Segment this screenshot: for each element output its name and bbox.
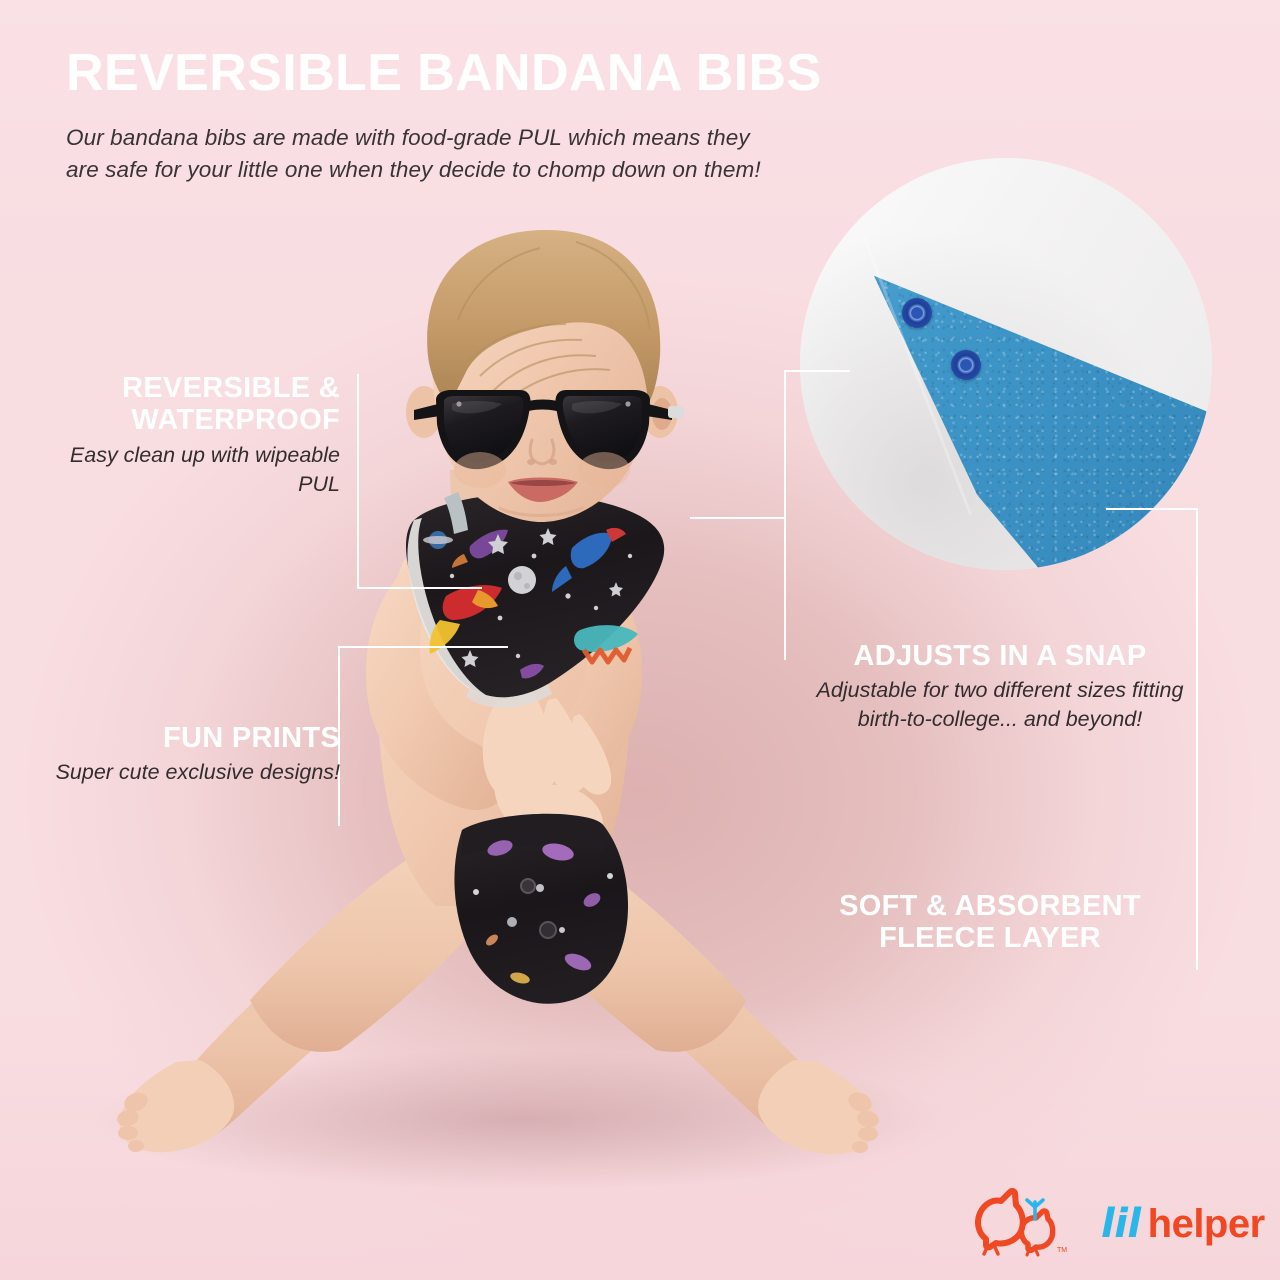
connector-snap-to-circle xyxy=(784,370,850,372)
infographic-canvas: REVERSIBLE BANDANA BIBS Our bandana bibs… xyxy=(0,0,1280,1280)
snap-button-bottom xyxy=(951,350,981,380)
two-birds-icon: TM xyxy=(975,1188,1093,1260)
callout-title: REVERSIBLE & WATERPROOF xyxy=(40,372,340,437)
callout-soft-absorbent-fleece: SOFT & ABSORBENT FLEECE LAYER xyxy=(790,890,1190,955)
svg-text:TM: TM xyxy=(1057,1247,1067,1254)
connector-fleece-vertical xyxy=(1196,508,1198,970)
connector-snap-vertical xyxy=(784,370,786,660)
callout-reversible-waterproof: REVERSIBLE & WATERPROOF Easy clean up wi… xyxy=(40,372,340,498)
callout-fun-prints: FUN PRINTS Super cute exclusive designs! xyxy=(40,722,340,787)
brand-logo[interactable]: TM lil helper xyxy=(975,1188,1265,1260)
callout-body: Adjustable for two different sizes fitti… xyxy=(800,676,1200,733)
callout-title: SOFT & ABSORBENT FLEECE LAYER xyxy=(790,890,1190,955)
connector-funprints-horizontal xyxy=(338,646,508,648)
logo-word-helper: helper xyxy=(1148,1202,1265,1247)
callout-body: Super cute exclusive designs! xyxy=(40,758,340,787)
callout-body: Easy clean up with wipeable PUL xyxy=(40,441,340,498)
snap-button-top xyxy=(902,298,932,328)
logo-wordmark: lil helper xyxy=(1101,1201,1265,1247)
callout-title: ADJUSTS IN A SNAP xyxy=(800,640,1200,672)
page-title: REVERSIBLE BANDANA BIBS xyxy=(66,46,822,101)
connector-snap-horizontal xyxy=(690,517,786,519)
callout-adjusts-in-a-snap: ADJUSTS IN A SNAP Adjustable for two dif… xyxy=(800,640,1200,734)
logo-word-lil: lil xyxy=(1101,1201,1141,1247)
connector-reversible-horizontal xyxy=(357,587,482,589)
connector-fleece-horizontal xyxy=(1106,508,1198,510)
connector-reversible-vertical xyxy=(357,374,359,588)
callout-title: FUN PRINTS xyxy=(40,722,340,754)
page-subtitle: Our bandana bibs are made with food-grad… xyxy=(66,122,766,186)
